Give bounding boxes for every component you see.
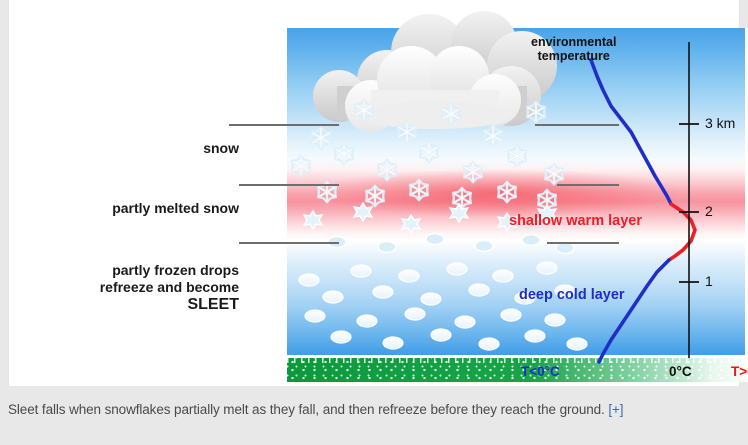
curve-warm	[669, 204, 695, 260]
axis-label-2km: 2	[705, 203, 713, 219]
label-sleet-block: partly frozen drops refreeze and become …	[59, 262, 239, 313]
sleet-pellet-group	[279, 14, 737, 374]
caption-block: Sleet falls when snowflakes partially me…	[8, 400, 698, 419]
screenshot-root: 3 km 2 1 environmental temperature shall…	[0, 0, 748, 445]
cloud-graphic	[279, 14, 737, 374]
partly-melted-snow-group	[279, 14, 737, 374]
warm-layer-band	[287, 28, 745, 358]
rule-sleet-left	[239, 242, 339, 244]
rule-melt-left	[239, 184, 339, 186]
rule-snow-left	[229, 124, 339, 126]
environmental-temperature-label: environmental temperature	[531, 35, 616, 63]
altitude-axis	[279, 14, 737, 374]
ground-texture	[287, 358, 745, 363]
rule-snow-right	[535, 124, 619, 126]
caption-area: Sleet falls when snowflakes partially me…	[0, 386, 748, 445]
rule-sleet-right	[547, 242, 619, 244]
axis-label-3km: 3 km	[705, 115, 735, 131]
shallow-warm-layer-label: shallow warm layer	[509, 213, 642, 229]
env-temp-line2: temperature	[531, 49, 616, 63]
figure-panel: 3 km 2 1 environmental temperature shall…	[8, 0, 740, 386]
sleet-diagram: 3 km 2 1 environmental temperature shall…	[279, 14, 737, 374]
sky-gradient	[287, 28, 745, 358]
deep-cold-layer-label: deep cold layer	[519, 287, 625, 303]
t-above-zero-label: T>0°C	[731, 364, 748, 379]
label-partly-melted-snow: partly melted snow	[69, 200, 239, 216]
caption-expand-link[interactable]: [+]	[608, 402, 623, 417]
curve-cold-upper	[591, 60, 671, 204]
t-below-zero-label: T<0°C	[521, 364, 560, 379]
caption-sentence: Sleet falls when snowflakes partially me…	[8, 402, 605, 417]
axis-label-1km: 1	[705, 273, 713, 289]
environmental-temperature-curve	[279, 14, 737, 374]
label-sleet-line3: SLEET	[59, 296, 239, 313]
snowflake-group	[279, 14, 737, 374]
label-snow: snow	[69, 140, 239, 156]
curve-cold-lower	[599, 260, 669, 362]
rule-melt-right	[557, 184, 619, 186]
label-sleet-line1: partly frozen drops	[59, 262, 239, 279]
label-sleet-line2: refreeze and become	[59, 279, 239, 296]
ground-separator	[287, 355, 745, 358]
t-zero-label: 0°C	[669, 364, 692, 379]
env-temp-line1: environmental	[531, 35, 616, 49]
